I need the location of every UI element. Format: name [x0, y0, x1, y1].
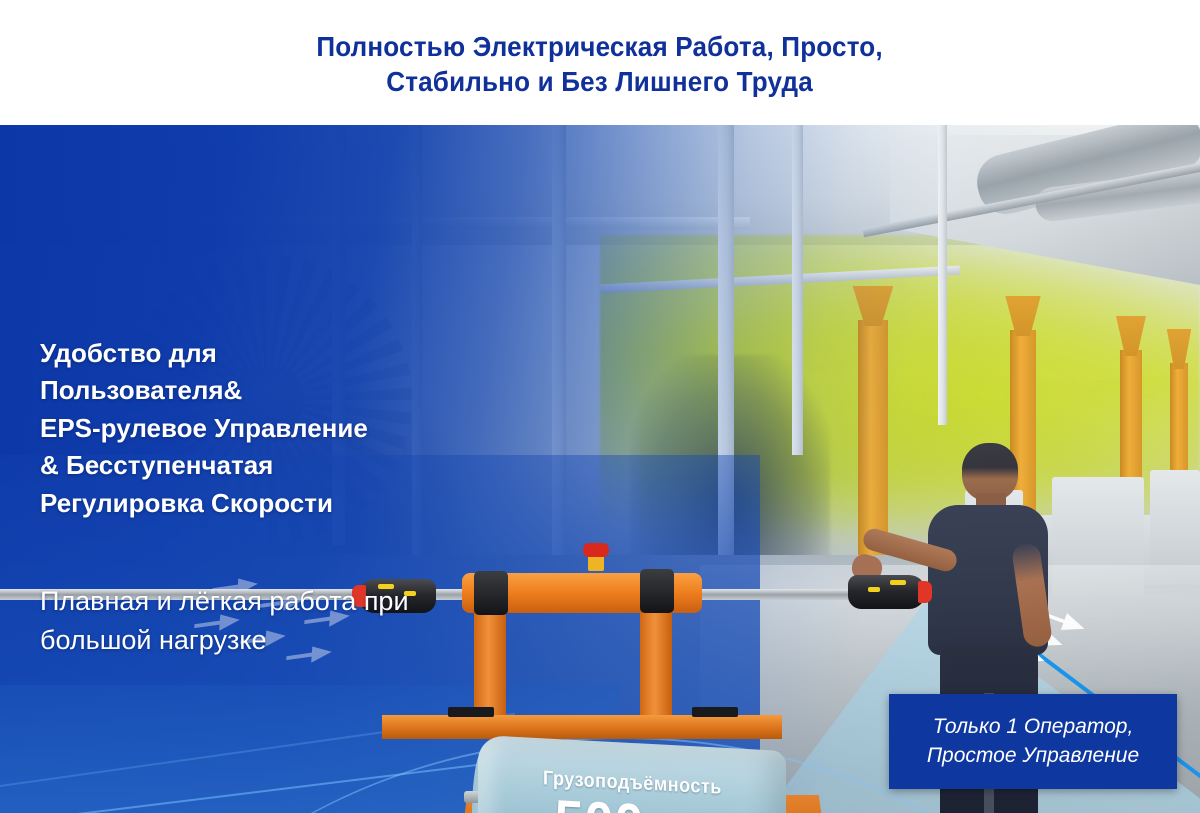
- callout-line: Простое Управление: [927, 742, 1139, 771]
- support-post-4: [718, 125, 734, 595]
- electric-pallet-truck: Грузоподъёмность 500 кг: [440, 555, 910, 813]
- promo-banner: Полностью Электрическая Работа, Просто, …: [0, 0, 1200, 813]
- mast-right: [640, 603, 672, 733]
- subtext-line: большой нагрузке: [40, 621, 510, 660]
- ceiling-beam-1: [190, 217, 750, 229]
- handle-red-cap-icon: [918, 581, 932, 603]
- handle-yellow-accent-icon: [868, 587, 880, 592]
- apron-tab-right: [692, 707, 738, 717]
- emergency-stop-button[interactable]: [583, 543, 609, 557]
- support-post-6: [938, 125, 947, 425]
- apron-tab-left: [448, 707, 494, 717]
- floor-cabinet-2: [1150, 470, 1200, 580]
- tiller-handle-right: [848, 575, 926, 609]
- fork-apron: [382, 715, 782, 739]
- feature-line: Удобство для: [40, 335, 520, 372]
- page-title: Полностью Электрическая Работа, Просто, …: [317, 30, 884, 98]
- feature-line: Регулировка Скорости: [40, 485, 520, 522]
- capacity-drum: Грузоподъёмность 500 кг: [478, 735, 786, 813]
- callout-line: Только 1 Оператор,: [933, 713, 1134, 742]
- feature-line: & Бесступенчатая: [40, 447, 520, 484]
- subtext-block: Плавная и лёгкая работа при большой нагр…: [40, 582, 510, 660]
- feature-text-block: Удобство для Пользователя& EPS-рулевое У…: [40, 335, 520, 522]
- handle-yellow-accent-icon: [890, 580, 906, 585]
- handle-body: [848, 575, 926, 609]
- operator-callout-box: Только 1 Оператор, Простое Управление: [889, 694, 1177, 789]
- support-post-5: [792, 125, 803, 455]
- support-post-3: [552, 125, 566, 565]
- feature-line: Пользователя&: [40, 372, 520, 409]
- feature-line: EPS-рулевое Управление: [40, 410, 520, 447]
- banner-header: Полностью Электрическая Работа, Просто, …: [0, 0, 1200, 125]
- pivot-block-right: [640, 569, 674, 613]
- subtext-line: Плавная и лёгкая работа при: [40, 582, 510, 621]
- capacity-value: 500 кг: [555, 793, 710, 813]
